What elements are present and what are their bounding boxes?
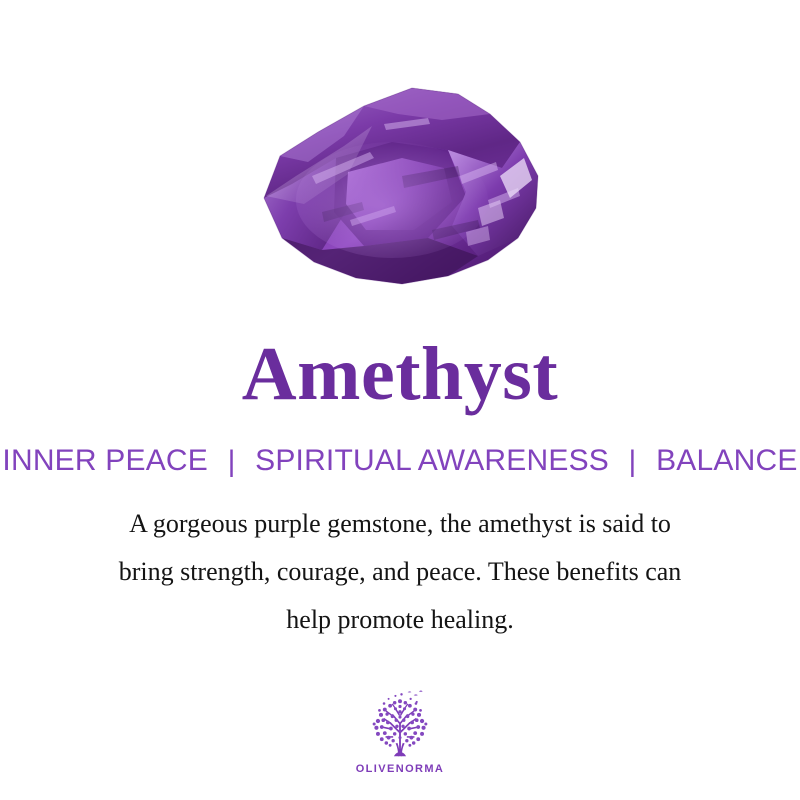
keyword-spiritual-awareness: SPIRITUAL AWARENESS (255, 444, 609, 477)
hero-image-area (0, 62, 800, 307)
keyword-balance: BALANCE (656, 444, 797, 477)
keyword-separator: | (217, 443, 247, 481)
brand-logo: OLIVENORMA (0, 686, 800, 775)
brand-wordmark: OLIVENORMA (0, 763, 800, 775)
keyword-list: INNER PEACE | SPIRITUAL AWARENESS | BALA… (0, 442, 800, 480)
keyword-separator: | (618, 443, 648, 481)
description-line: A gorgeous purple gemstone, the amethyst… (60, 500, 740, 548)
description-line: help promote healing. (60, 596, 740, 644)
product-description: A gorgeous purple gemstone, the amethyst… (60, 500, 740, 644)
amethyst-crystal-image (252, 80, 548, 292)
description-line: bring strength, courage, and peace. Thes… (60, 548, 740, 596)
product-title: Amethyst (0, 331, 800, 417)
amethyst-crystal-icon (252, 80, 548, 292)
product-info-card: Amethyst INNER PEACE | SPIRITUAL AWARENE… (0, 0, 800, 800)
tree-of-life-icon (362, 686, 438, 762)
keyword-inner-peace: INNER PEACE (2, 444, 208, 477)
